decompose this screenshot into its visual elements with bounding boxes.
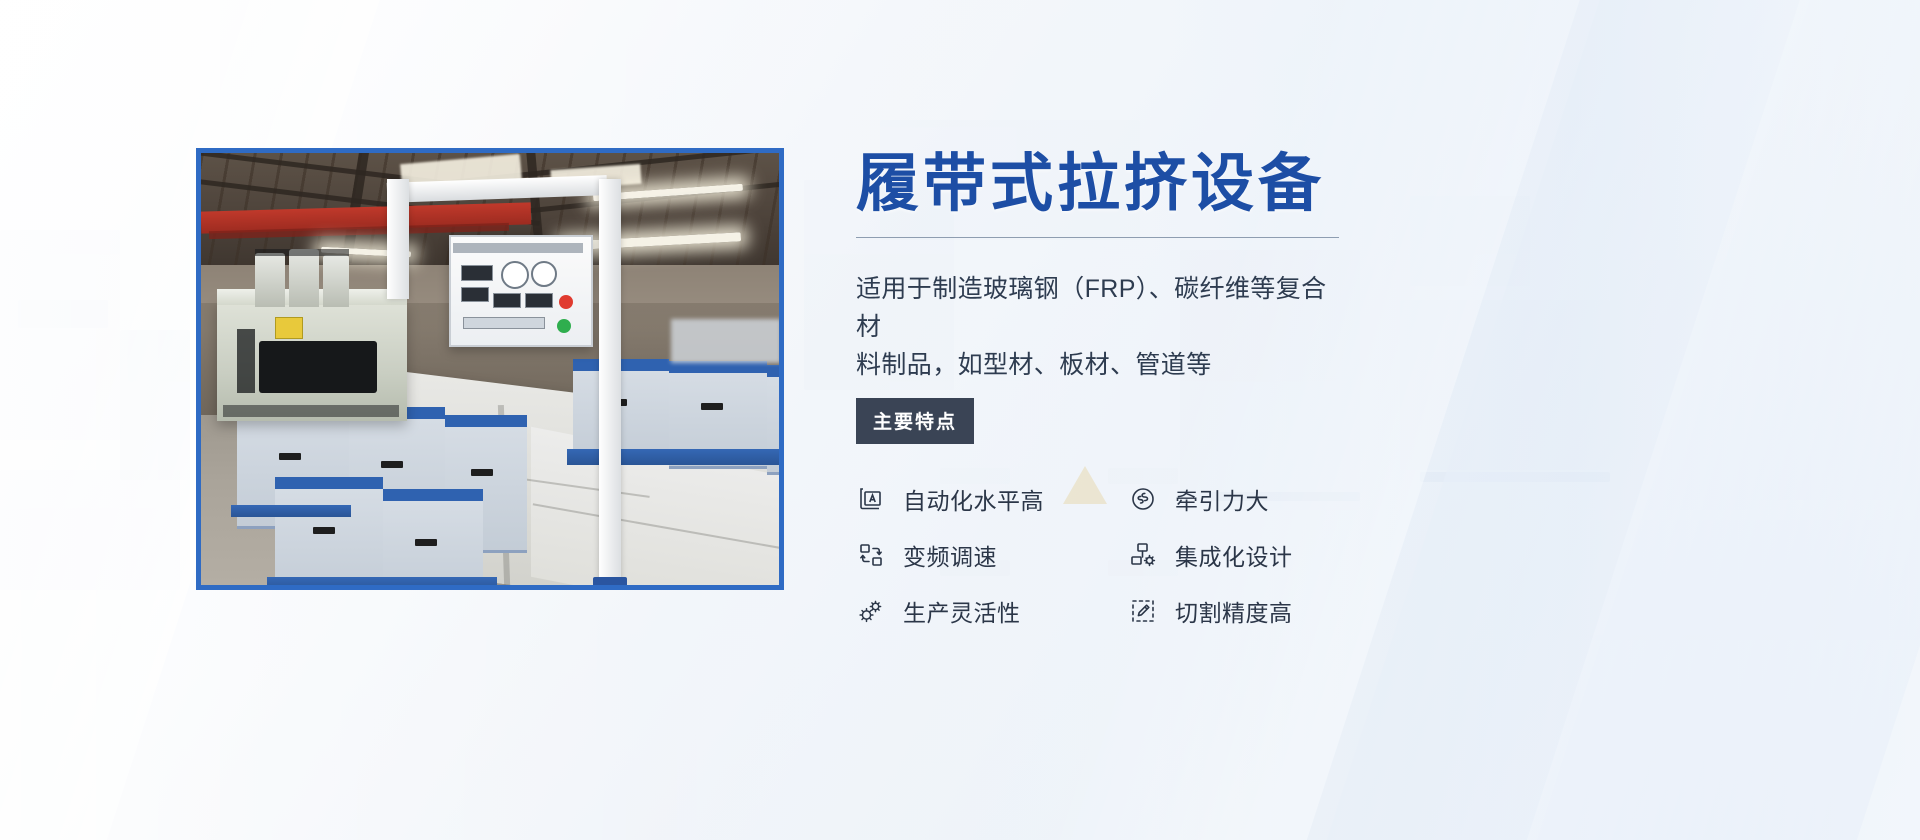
product-banner: 履带式拉挤设备 适用于制造玻璃钢（FRP）、碳纤维等复合材 料制品，如型材、板材… — [0, 0, 1920, 840]
feature-item-integrated: 集成化设计 — [1128, 538, 1400, 572]
page-title: 履带式拉挤设备 — [856, 150, 1376, 218]
feature-item-flexibility: 生产灵活性 — [856, 594, 1128, 628]
title-divider — [856, 237, 1339, 238]
feature-label: 自动化水平高 — [903, 482, 1044, 516]
traction-waves-circle-icon — [1128, 484, 1158, 514]
feature-label: 变频调速 — [903, 538, 997, 572]
cutting-precision-pen-icon — [1128, 596, 1158, 626]
feature-label: 生产灵活性 — [903, 594, 1021, 628]
feature-item-frequency: 变频调速 — [856, 538, 1128, 572]
feature-list: 自动化水平高 牵引力大 — [856, 482, 1376, 628]
feature-label: 牵引力大 — [1175, 482, 1269, 516]
banner-subtitle: 适用于制造玻璃钢（FRP）、碳纤维等复合材 料制品，如型材、板材、管道等 — [856, 270, 1346, 384]
feature-item-cutting: 切割精度高 — [1128, 594, 1400, 628]
feature-label: 集成化设计 — [1175, 538, 1293, 572]
pultrusion-equipment-photo — [196, 148, 784, 590]
automation-frame-a-icon — [856, 484, 886, 514]
subtitle-line-1: 适用于制造玻璃钢（FRP）、碳纤维等复合材 — [856, 270, 1346, 346]
subtitle-line-2: 料制品，如型材、板材、管道等 — [856, 346, 1346, 384]
feature-item-traction: 牵引力大 — [1128, 482, 1400, 516]
gears-flexibility-icon — [856, 596, 886, 626]
frequency-conversion-icon — [856, 540, 886, 570]
integrated-design-icon — [1128, 540, 1158, 570]
main-features-badge: 主要特点 — [856, 398, 974, 444]
feature-label: 切割精度高 — [1175, 594, 1293, 628]
background-watermark-triangle — [1063, 466, 1107, 504]
banner-content: 履带式拉挤设备 适用于制造玻璃钢（FRP）、碳纤维等复合材 料制品，如型材、板材… — [856, 150, 1376, 628]
